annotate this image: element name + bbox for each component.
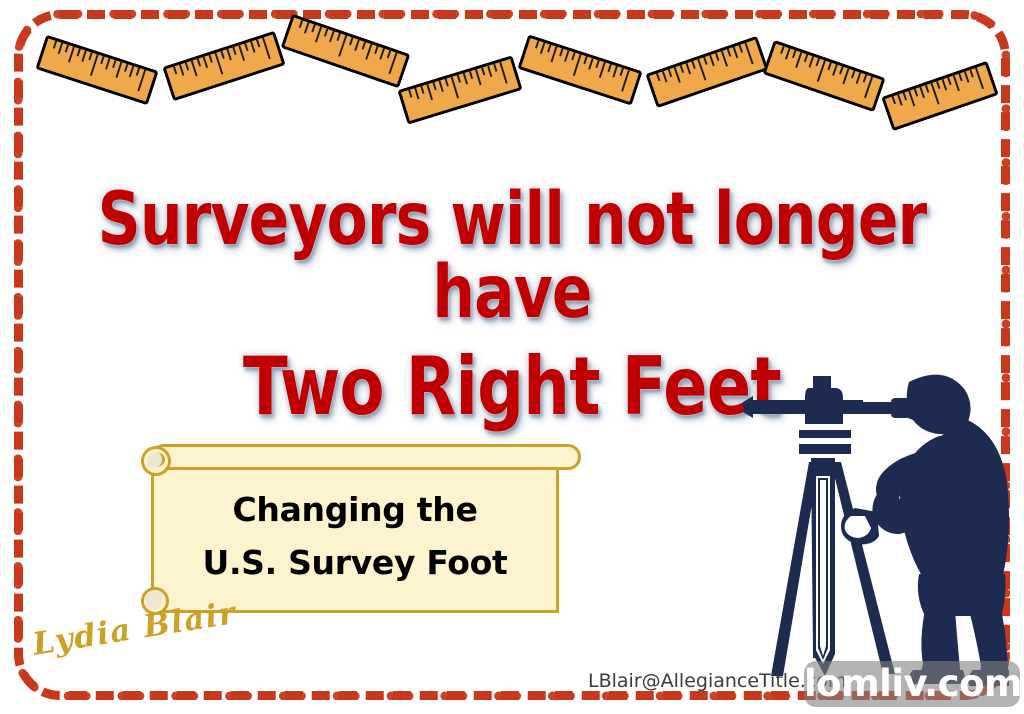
title-line-1: Surveyors will not longer have [92,183,932,329]
ruler-icon [281,14,411,89]
site-watermark-text: lomliv.com [804,661,1020,707]
scroll-text: Changing the U.S. Survey Foot [151,484,559,590]
site-watermark: lomliv.com [804,661,1020,707]
scroll-banner: Changing the U.S. Survey Foot [133,444,585,617]
ruler-icon [162,31,285,102]
ruler-clipart-row [0,0,1024,160]
slide-canvas: Surveyors will not longer have Two Right… [0,0,1024,714]
scroll-top-bar [151,444,581,470]
scroll-line-1: Changing the [151,484,559,537]
ruler-icon [881,61,999,132]
ruler-icon [517,34,642,105]
ruler-icon [645,36,768,108]
ruler-icon [397,55,522,125]
ruler-icon [35,35,158,106]
ruler-icon [762,40,885,112]
surveyor-silhouette [713,358,1009,688]
scroll-line-2: U.S. Survey Foot [151,537,559,590]
scroll-curl-top-inner-icon [147,452,165,467]
